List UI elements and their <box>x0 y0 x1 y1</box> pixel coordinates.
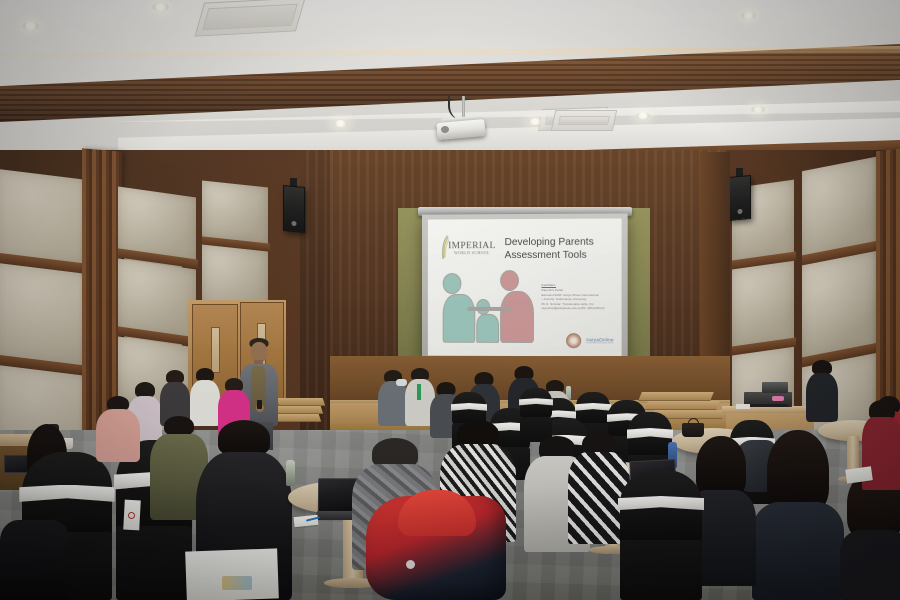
slide-title-line1: Developing Parents <box>505 235 612 249</box>
downlight-icon <box>741 12 756 19</box>
stage-step <box>638 392 714 401</box>
ceiling-soffit <box>0 0 900 52</box>
handbag-handle <box>688 418 699 425</box>
stage-step <box>277 398 326 406</box>
downlight-icon <box>528 118 542 125</box>
av-paper <box>736 404 750 409</box>
downlight-icon <box>333 120 348 127</box>
audience-person <box>0 520 70 600</box>
covered-chair <box>620 470 702 600</box>
conference-hall-photo: IMPERIAL WORLD SCHOOL Developing Parents… <box>0 0 900 600</box>
logo-sub-text: WORLD SCHOOL <box>448 252 496 256</box>
covered-chair <box>520 388 552 442</box>
av-device <box>762 382 788 393</box>
ac-vent-icon <box>551 110 617 131</box>
facilitator-block: Facilitator: Rajendra Dahal Educator/HOD… <box>541 283 613 311</box>
wall-speaker-left <box>283 185 305 233</box>
audience-person <box>806 360 838 422</box>
presentation-slide: IMPERIAL WORLD SCHOOL Developing Parents… <box>428 218 622 356</box>
chair-paper-logo <box>222 576 252 590</box>
facilitator-line: rajendrad@aaryaedu.edu.np/Ph: 9851158123 <box>541 306 613 311</box>
projection-screen: IMPERIAL WORLD SCHOOL Developing Parents… <box>422 213 628 362</box>
downlight-icon <box>636 112 650 119</box>
aarya-online-logo: AaryaOnline Connected with Aarya Shree <box>586 338 614 345</box>
slide-title-line2: Assessment Tools <box>505 249 612 263</box>
downlight-icon <box>751 106 765 113</box>
chair-paper <box>185 548 279 600</box>
ac-vent-icon <box>194 0 305 37</box>
downlight-icon <box>22 22 39 30</box>
linked-arms <box>468 307 511 311</box>
jacket-button-icon <box>406 560 415 569</box>
wheat-leaf-icon <box>440 234 449 260</box>
imperial-world-school-logo: IMPERIAL WORLD SCHOOL <box>437 229 499 270</box>
wall-speaker-right <box>729 175 751 221</box>
downlight-icon <box>152 3 169 11</box>
audience-person <box>752 430 844 600</box>
stage-step <box>644 401 720 410</box>
family-graphic <box>441 268 535 345</box>
av-cable <box>748 404 788 407</box>
presenter-remote <box>257 400 262 409</box>
lanyard <box>417 384 421 400</box>
presenter-head <box>251 342 268 362</box>
water-bottle <box>286 460 295 486</box>
aarya-online-tagline: Connected with Aarya Shree <box>586 343 614 345</box>
seat-card-mark <box>128 512 135 519</box>
handbag <box>682 423 704 437</box>
audience-person <box>96 396 140 462</box>
slide-title: Developing Parents Assessment Tools <box>505 235 612 262</box>
stage-pink-item <box>772 396 784 401</box>
slide-footer-logos: AaryaOnline Connected with Aarya Shree <box>536 330 614 352</box>
figure-child-icon <box>476 299 499 343</box>
circular-emblem-icon <box>566 334 581 349</box>
